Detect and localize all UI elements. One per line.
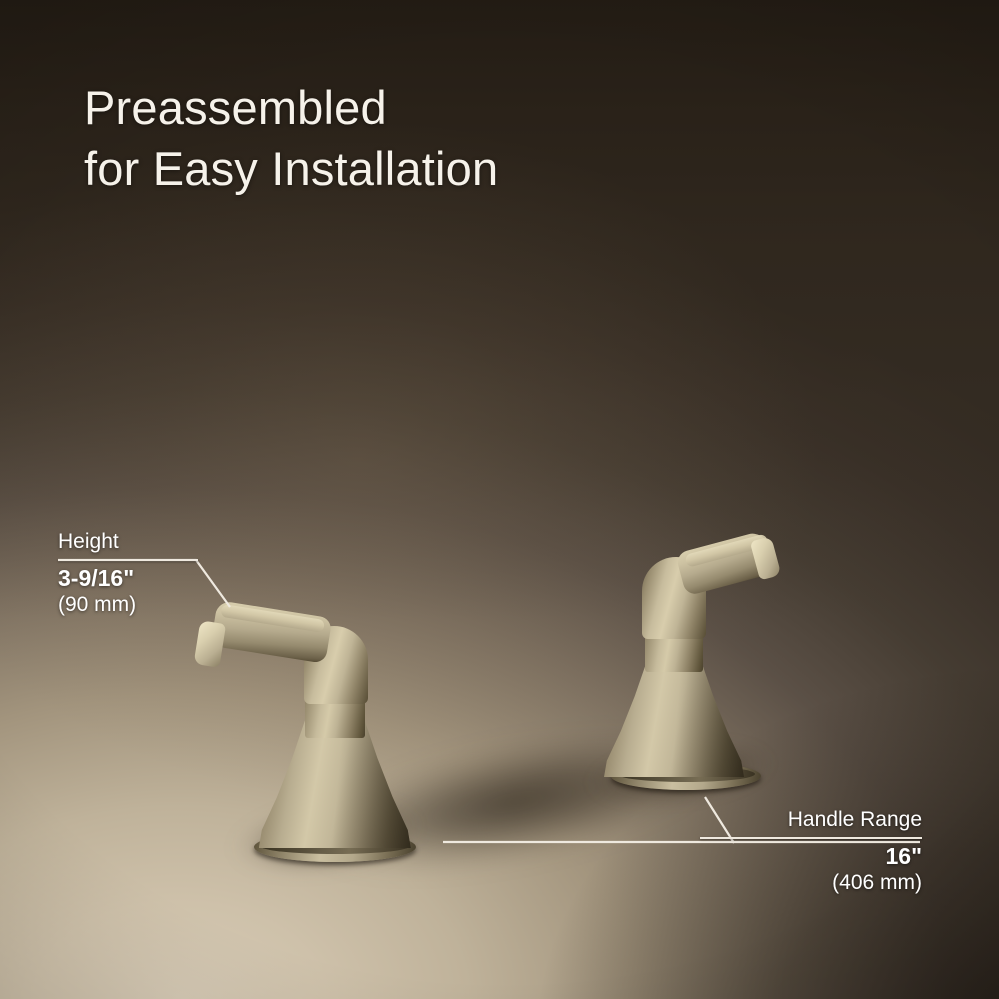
- callout-handle-range-caption: Handle Range: [700, 808, 922, 833]
- callout-handle-range: Handle Range 16" (406 mm): [700, 808, 922, 895]
- callout-height-metric: (90 mm): [58, 592, 198, 618]
- product-photo: Preassembled for Easy Installation Heigh…: [0, 0, 999, 999]
- callout-height-rule: [58, 559, 198, 561]
- callout-height-caption: Height: [58, 530, 198, 555]
- page-title: Preassembled for Easy Installation: [84, 78, 498, 199]
- callout-handle-range-value: 16": [700, 842, 922, 870]
- callout-handle-range-metric: (406 mm): [700, 870, 922, 896]
- callout-height-value: 3-9/16": [58, 564, 198, 592]
- callout-handle-range-rule: [700, 837, 922, 839]
- callout-height: Height 3-9/16" (90 mm): [58, 530, 198, 617]
